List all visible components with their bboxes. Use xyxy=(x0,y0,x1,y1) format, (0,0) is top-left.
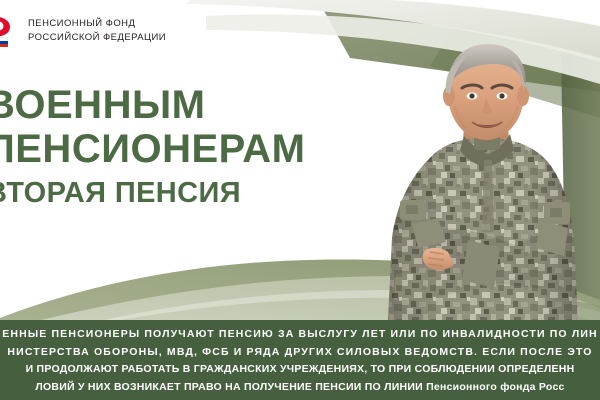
headline-line-1: ВОЕННЫМ xyxy=(0,82,306,128)
logo-line-1: ПЕНСИОННЫЙ ФОНД xyxy=(28,18,166,30)
pension-fund-banner: ПЕНСИОННЫЙ ФОНД РОССИЙСКОЙ ФЕДЕРАЦИИ ВОЕ… xyxy=(0,0,600,400)
logo-line-2: РОССИЙСКОЙ ФЕДЕРАЦИИ xyxy=(28,32,166,44)
photo-man-in-camouflage-uniform xyxy=(368,42,600,320)
bottom-text-line-1: ЕННЫЕ ПЕНСИОНЕРЫ ПОЛУЧАЮТ ПЕНСИЮ ЗА ВЫСЛ… xyxy=(0,326,600,344)
logo-text-block: ПЕНСИОННЫЙ ФОНД РОССИЙСКОЙ ФЕДЕРАЦИИ xyxy=(28,18,166,44)
headline-block: ВОЕННЫМ ПЕНСИОНЕРАМ ВТОРАЯ ПЕНСИЯ xyxy=(0,82,306,210)
pension-fund-logo: ПЕНСИОННЫЙ ФОНД РОССИЙСКОЙ ФЕДЕРАЦИИ xyxy=(0,14,166,48)
headline-subline: ВТОРАЯ ПЕНСИЯ xyxy=(0,176,306,210)
bottom-text-line-4: ЛОВИЙ У НИХ ВОЗНИКАЕТ ПРАВО НА ПОЛУЧЕНИЕ… xyxy=(0,379,600,397)
headline-line-2: ПЕНСИОНЕРАМ xyxy=(0,126,306,172)
bottom-text-line-3: И ПРОДОЛЖАЮТ РАБОТАТЬ В ГРАЖДАНСКИХ УЧРЕ… xyxy=(0,361,600,379)
man-figure-svg xyxy=(368,42,600,320)
pfr-emblem-icon xyxy=(0,14,22,48)
bottom-text-bar: ЕННЫЕ ПЕНСИОНЕРЫ ПОЛУЧАЮТ ПЕНСИЮ ЗА ВЫСЛ… xyxy=(0,320,600,400)
bottom-text-line-2: НИСТЕРСТВА ОБОРОНЫ, МВД, ФСБ И РЯДА ДРУГ… xyxy=(0,344,600,362)
pfr-emblem-svg xyxy=(0,14,22,48)
